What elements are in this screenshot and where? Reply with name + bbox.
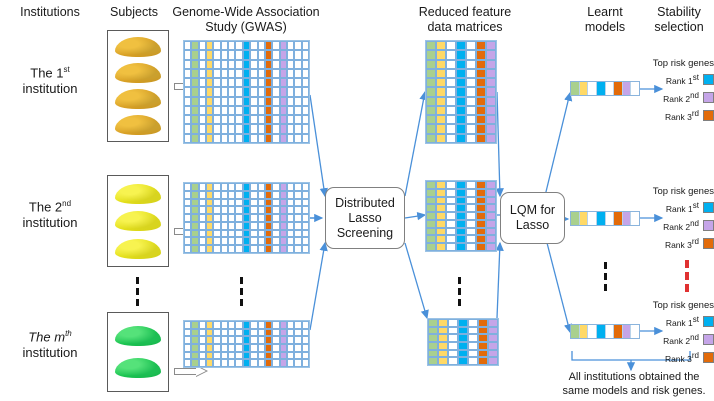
matrix-cell — [302, 191, 309, 199]
matrix-cell — [272, 344, 279, 352]
matrix-cell — [294, 87, 301, 96]
matrix-cell — [302, 97, 309, 106]
matrix-cell — [191, 237, 198, 245]
matrix-cell — [272, 237, 279, 245]
matrix-cell — [476, 220, 486, 228]
matrix-cell — [228, 199, 235, 207]
matrix-cell — [426, 220, 436, 228]
matrix-cell — [199, 50, 206, 59]
matrix-cell — [243, 60, 250, 69]
matrix-cell — [476, 243, 486, 251]
matrix-cell — [272, 214, 279, 222]
matrix-cell — [206, 344, 213, 352]
matrix-cell — [228, 183, 235, 191]
matrix-cell — [280, 124, 287, 133]
matrix-cell — [184, 222, 191, 230]
matrix-cell — [436, 212, 446, 220]
matrix-cell — [436, 41, 446, 50]
ellipsis-models — [604, 262, 607, 291]
matrix-cell — [287, 329, 294, 337]
matrix-cell — [221, 206, 228, 214]
matrix-cell — [280, 321, 287, 329]
matrix-cell — [250, 191, 257, 199]
institution-label-2-sup: nd — [62, 199, 71, 208]
matrix-cell — [191, 321, 198, 329]
matrix-cell — [436, 60, 446, 69]
matrix-cell — [250, 134, 257, 143]
matrix-cell — [287, 97, 294, 106]
matrix-cell — [294, 336, 301, 344]
matrix-cell — [476, 69, 486, 78]
matrix-cell — [184, 78, 191, 87]
matrix-cell — [221, 41, 228, 50]
matrix-cell — [235, 41, 242, 50]
subject-brain-image — [115, 326, 161, 346]
matrix-cell — [456, 189, 466, 197]
matrix-cell — [243, 41, 250, 50]
matrix-cell — [221, 214, 228, 222]
matrix-cell — [235, 352, 242, 360]
matrix-cell — [213, 97, 220, 106]
matrix-cell — [191, 336, 198, 344]
matrix-cell — [213, 245, 220, 253]
matrix-cell — [272, 69, 279, 78]
matrix-cell — [250, 87, 257, 96]
matrix-cell — [456, 197, 466, 205]
matrix-cell — [302, 87, 309, 96]
matrix-cell — [265, 50, 272, 59]
matrix-cell — [468, 342, 478, 350]
matrix-cell — [280, 230, 287, 238]
subjects-box-1 — [107, 30, 169, 142]
matrix-cell — [466, 60, 476, 69]
matrix-cell — [486, 115, 496, 124]
legend-label-2-2: Rank 3rd — [665, 237, 699, 250]
matrix-cell — [468, 350, 478, 358]
ellipsis-stability — [685, 260, 689, 292]
matrix-cell — [243, 230, 250, 238]
matrix-cell — [235, 344, 242, 352]
matrix-cell — [428, 350, 438, 358]
matrix-cell — [476, 181, 486, 189]
matrix-cell — [272, 60, 279, 69]
matrix-cell — [235, 206, 242, 214]
model-cell — [580, 212, 589, 225]
matrix-cell — [199, 206, 206, 214]
matrix-cell — [206, 230, 213, 238]
matrix-cell — [272, 359, 279, 367]
model-cell — [614, 325, 623, 338]
matrix-cell — [280, 183, 287, 191]
matrix-cell — [221, 245, 228, 253]
matrix-cell — [265, 87, 272, 96]
matrix-cell — [265, 134, 272, 143]
matrix-cell — [456, 243, 466, 251]
gwas-matrix-1 — [183, 40, 310, 144]
matrix-cell — [476, 204, 486, 212]
legend-swatch-rank2 — [703, 92, 714, 103]
model-cell — [571, 212, 580, 225]
matrix-cell — [436, 181, 446, 189]
matrix-cell — [250, 230, 257, 238]
matrix-cell — [250, 206, 257, 214]
matrix-cell — [258, 41, 265, 50]
matrix-cell — [243, 69, 250, 78]
matrix-cell — [426, 69, 436, 78]
matrix-cell — [468, 334, 478, 342]
model-cell — [580, 325, 589, 338]
matrix-cell — [446, 204, 456, 212]
matrix-cell — [280, 69, 287, 78]
lqm-line1: LQM for — [510, 203, 555, 218]
matrix-cell — [446, 228, 456, 236]
matrix-cell — [199, 245, 206, 253]
legend-swatch-rank3-b — [703, 238, 714, 249]
matrix-cell — [228, 60, 235, 69]
matrix-cell — [488, 327, 498, 335]
matrix-cell — [199, 60, 206, 69]
matrix-cell — [265, 78, 272, 87]
matrix-cell — [287, 199, 294, 207]
matrix-cell — [250, 222, 257, 230]
matrix-cell — [287, 50, 294, 59]
header-gwas-line2: Study (GWAS) — [170, 20, 322, 35]
matrix-cell — [302, 230, 309, 238]
matrix-cell — [213, 199, 220, 207]
matrix-cell — [258, 115, 265, 124]
matrix-cell — [235, 106, 242, 115]
model-cell — [597, 325, 606, 338]
matrix-cell — [294, 206, 301, 214]
matrix-cell — [294, 60, 301, 69]
matrix-cell — [243, 336, 250, 344]
matrix-cell — [250, 78, 257, 87]
matrix-cell — [258, 97, 265, 106]
matrix-cell — [228, 359, 235, 367]
matrix-cell — [456, 124, 466, 133]
legend-group-3: Top risk genes Rank 1st Rank 2nd Rank 3r… — [630, 300, 714, 363]
matrix-cell — [206, 78, 213, 87]
matrix-cell — [191, 222, 198, 230]
matrix-cell — [287, 134, 294, 143]
matrix-cell — [272, 352, 279, 360]
lqm-line2: Lasso — [510, 218, 555, 233]
matrix-cell — [426, 212, 436, 220]
matrix-cell — [199, 214, 206, 222]
matrix-cell — [486, 87, 496, 96]
matrix-cell — [426, 87, 436, 96]
matrix-cell — [250, 41, 257, 50]
matrix-cell — [446, 87, 456, 96]
matrix-cell — [488, 342, 498, 350]
diagram-canvas: Institutions Subjects Genome-Wide Associ… — [0, 0, 714, 401]
matrix-cell — [486, 228, 496, 236]
matrix-cell — [184, 321, 191, 329]
legend-row-3-1: Rank 2nd — [630, 333, 714, 346]
matrix-cell — [228, 78, 235, 87]
matrix-cell — [206, 237, 213, 245]
matrix-cell — [191, 50, 198, 59]
matrix-cell — [199, 69, 206, 78]
matrix-cell — [488, 350, 498, 358]
matrix-cell — [436, 87, 446, 96]
matrix-cell — [221, 344, 228, 352]
matrix-cell — [272, 134, 279, 143]
distributed-lasso-screening-box[interactable]: Distributed Lasso Screening — [325, 187, 405, 249]
matrix-cell — [458, 350, 468, 358]
matrix-cell — [287, 115, 294, 124]
matrix-cell — [294, 329, 301, 337]
matrix-cell — [206, 336, 213, 344]
lqm-for-lasso-box[interactable]: LQM for Lasso — [500, 192, 565, 244]
matrix-cell — [287, 352, 294, 360]
matrix-cell — [280, 336, 287, 344]
matrix-cell — [235, 321, 242, 329]
matrix-cell — [302, 183, 309, 191]
matrix-cell — [243, 359, 250, 367]
matrix-cell — [228, 115, 235, 124]
legend-row-2-2: Rank 3rd — [630, 237, 714, 250]
matrix-cell — [235, 191, 242, 199]
matrix-cell — [426, 50, 436, 59]
matrix-cell — [250, 321, 257, 329]
subjects-box-2 — [107, 175, 169, 267]
matrix-cell — [302, 214, 309, 222]
matrix-cell — [221, 106, 228, 115]
matrix-cell — [258, 50, 265, 59]
matrix-cell — [486, 124, 496, 133]
matrix-cell — [206, 41, 213, 50]
matrix-cell — [446, 78, 456, 87]
matrix-cell — [258, 237, 265, 245]
matrix-cell — [456, 78, 466, 87]
matrix-cell — [228, 222, 235, 230]
matrix-cell — [228, 245, 235, 253]
matrix-cell — [466, 115, 476, 124]
matrix-cell — [287, 237, 294, 245]
matrix-cell — [478, 327, 488, 335]
ellipsis-reduced — [458, 277, 461, 306]
legend-swatch-rank1-b — [703, 202, 714, 213]
legend-title-3: Top risk genes — [630, 300, 714, 311]
subject-brain-image — [115, 37, 161, 57]
matrix-cell — [213, 206, 220, 214]
subject-brain-image — [115, 239, 161, 259]
matrix-cell — [235, 329, 242, 337]
matrix-cell — [458, 357, 468, 365]
matrix-cell — [265, 60, 272, 69]
model-cell — [606, 82, 615, 95]
matrix-cell — [206, 321, 213, 329]
matrix-cell — [243, 87, 250, 96]
reduced-matrix-2 — [425, 180, 497, 252]
matrix-cell — [191, 183, 198, 191]
matrix-cell — [228, 344, 235, 352]
matrix-cell — [184, 50, 191, 59]
matrix-cell — [221, 87, 228, 96]
matrix-cell — [436, 197, 446, 205]
matrix-cell — [438, 357, 448, 365]
matrix-cell — [213, 329, 220, 337]
matrix-cell — [206, 124, 213, 133]
header-reduced-line1: Reduced feature — [395, 5, 535, 20]
matrix-cell — [265, 245, 272, 253]
matrix-cell — [199, 134, 206, 143]
matrix-cell — [265, 183, 272, 191]
model-cell — [597, 82, 606, 95]
matrix-cell — [228, 41, 235, 50]
matrix-cell — [191, 78, 198, 87]
matrix-cell — [206, 359, 213, 367]
matrix-cell — [280, 50, 287, 59]
institution-label-1: The 1st institution — [2, 62, 98, 97]
matrix-cell — [206, 69, 213, 78]
matrix-cell — [446, 97, 456, 106]
matrix-cell — [221, 199, 228, 207]
matrix-cell — [235, 237, 242, 245]
matrix-cell — [258, 106, 265, 115]
matrix-cell — [438, 342, 448, 350]
matrix-cell — [476, 115, 486, 124]
matrix-cell — [287, 245, 294, 253]
matrix-cell — [426, 78, 436, 87]
matrix-cell — [272, 222, 279, 230]
matrix-cell — [294, 237, 301, 245]
matrix-cell — [436, 69, 446, 78]
matrix-cell — [456, 212, 466, 220]
matrix-cell — [426, 243, 436, 251]
matrix-cell — [250, 344, 257, 352]
matrix-cell — [476, 87, 486, 96]
matrix-cell — [199, 321, 206, 329]
matrix-cell — [184, 336, 191, 344]
matrix-cell — [199, 352, 206, 360]
matrix-cell — [486, 197, 496, 205]
matrix-cell — [206, 87, 213, 96]
matrix-cell — [280, 199, 287, 207]
matrix-cell — [228, 106, 235, 115]
matrix-cell — [486, 181, 496, 189]
matrix-cell — [476, 78, 486, 87]
legend-title-2: Top risk genes — [630, 186, 714, 197]
matrix-cell — [302, 50, 309, 59]
header-gwas-line1: Genome-Wide Association — [170, 5, 322, 20]
matrix-cell — [280, 191, 287, 199]
matrix-cell — [486, 41, 496, 50]
matrix-cell — [191, 206, 198, 214]
matrix-cell — [235, 183, 242, 191]
legend-swatch-rank1 — [703, 74, 714, 85]
matrix-cell — [272, 50, 279, 59]
matrix-cell — [258, 191, 265, 199]
matrix-cell — [448, 334, 458, 342]
matrix-cell — [191, 352, 198, 360]
reduced-matrix-3 — [427, 318, 499, 366]
matrix-cell — [466, 197, 476, 205]
matrix-cell — [228, 134, 235, 143]
matrix-cell — [235, 124, 242, 133]
matrix-cell — [228, 206, 235, 214]
legend-row-3-2: Rank 3rd — [630, 351, 714, 364]
legend-label-3-1: Rank 2nd — [663, 333, 699, 346]
screening-line3: Screening — [335, 226, 395, 241]
matrix-cell — [191, 344, 198, 352]
matrix-cell — [426, 60, 436, 69]
matrix-cell — [258, 230, 265, 238]
matrix-cell — [235, 214, 242, 222]
matrix-cell — [436, 124, 446, 133]
matrix-cell — [228, 352, 235, 360]
matrix-cell — [458, 342, 468, 350]
matrix-cell — [243, 321, 250, 329]
matrix-cell — [287, 87, 294, 96]
matrix-cell — [436, 106, 446, 115]
matrix-cell — [265, 344, 272, 352]
matrix-cell — [287, 183, 294, 191]
matrix-cell — [191, 97, 198, 106]
matrix-cell — [206, 115, 213, 124]
matrix-cell — [191, 199, 198, 207]
matrix-cell — [235, 97, 242, 106]
matrix-cell — [243, 191, 250, 199]
matrix-cell — [456, 204, 466, 212]
matrix-cell — [294, 344, 301, 352]
matrix-cell — [302, 344, 309, 352]
header-stability-line1: Stability — [645, 5, 713, 20]
matrix-cell — [476, 228, 486, 236]
matrix-cell — [250, 336, 257, 344]
matrix-cell — [456, 115, 466, 124]
matrix-cell — [265, 97, 272, 106]
subject-brain-image — [115, 184, 161, 204]
matrix-cell — [250, 352, 257, 360]
matrix-cell — [221, 97, 228, 106]
matrix-cell — [426, 115, 436, 124]
legend-row-2-0: Rank 1st — [630, 201, 714, 214]
matrix-cell — [258, 321, 265, 329]
matrix-cell — [438, 319, 448, 327]
model-cell — [588, 325, 597, 338]
legend-label-3-2: Rank 3rd — [665, 351, 699, 364]
matrix-cell — [213, 230, 220, 238]
matrix-cell — [302, 78, 309, 87]
matrix-cell — [213, 183, 220, 191]
matrix-cell — [250, 214, 257, 222]
matrix-cell — [221, 329, 228, 337]
matrix-cell — [302, 352, 309, 360]
matrix-cell — [436, 115, 446, 124]
matrix-cell — [191, 191, 198, 199]
matrix-cell — [213, 237, 220, 245]
matrix-cell — [206, 222, 213, 230]
matrix-cell — [287, 206, 294, 214]
matrix-cell — [466, 204, 476, 212]
matrix-cell — [436, 189, 446, 197]
matrix-cell — [302, 245, 309, 253]
matrix-cell — [228, 321, 235, 329]
subject-brain-image — [115, 358, 161, 378]
matrix-cell — [456, 106, 466, 115]
model-cell — [588, 82, 597, 95]
matrix-cell — [466, 220, 476, 228]
matrix-cell — [235, 87, 242, 96]
matrix-cell — [476, 235, 486, 243]
matrix-cell — [258, 245, 265, 253]
header-learnt-line2: models — [570, 20, 640, 35]
bottom-caption: All institutions obtained the same model… — [556, 370, 712, 398]
matrix-cell — [184, 206, 191, 214]
matrix-cell — [265, 191, 272, 199]
